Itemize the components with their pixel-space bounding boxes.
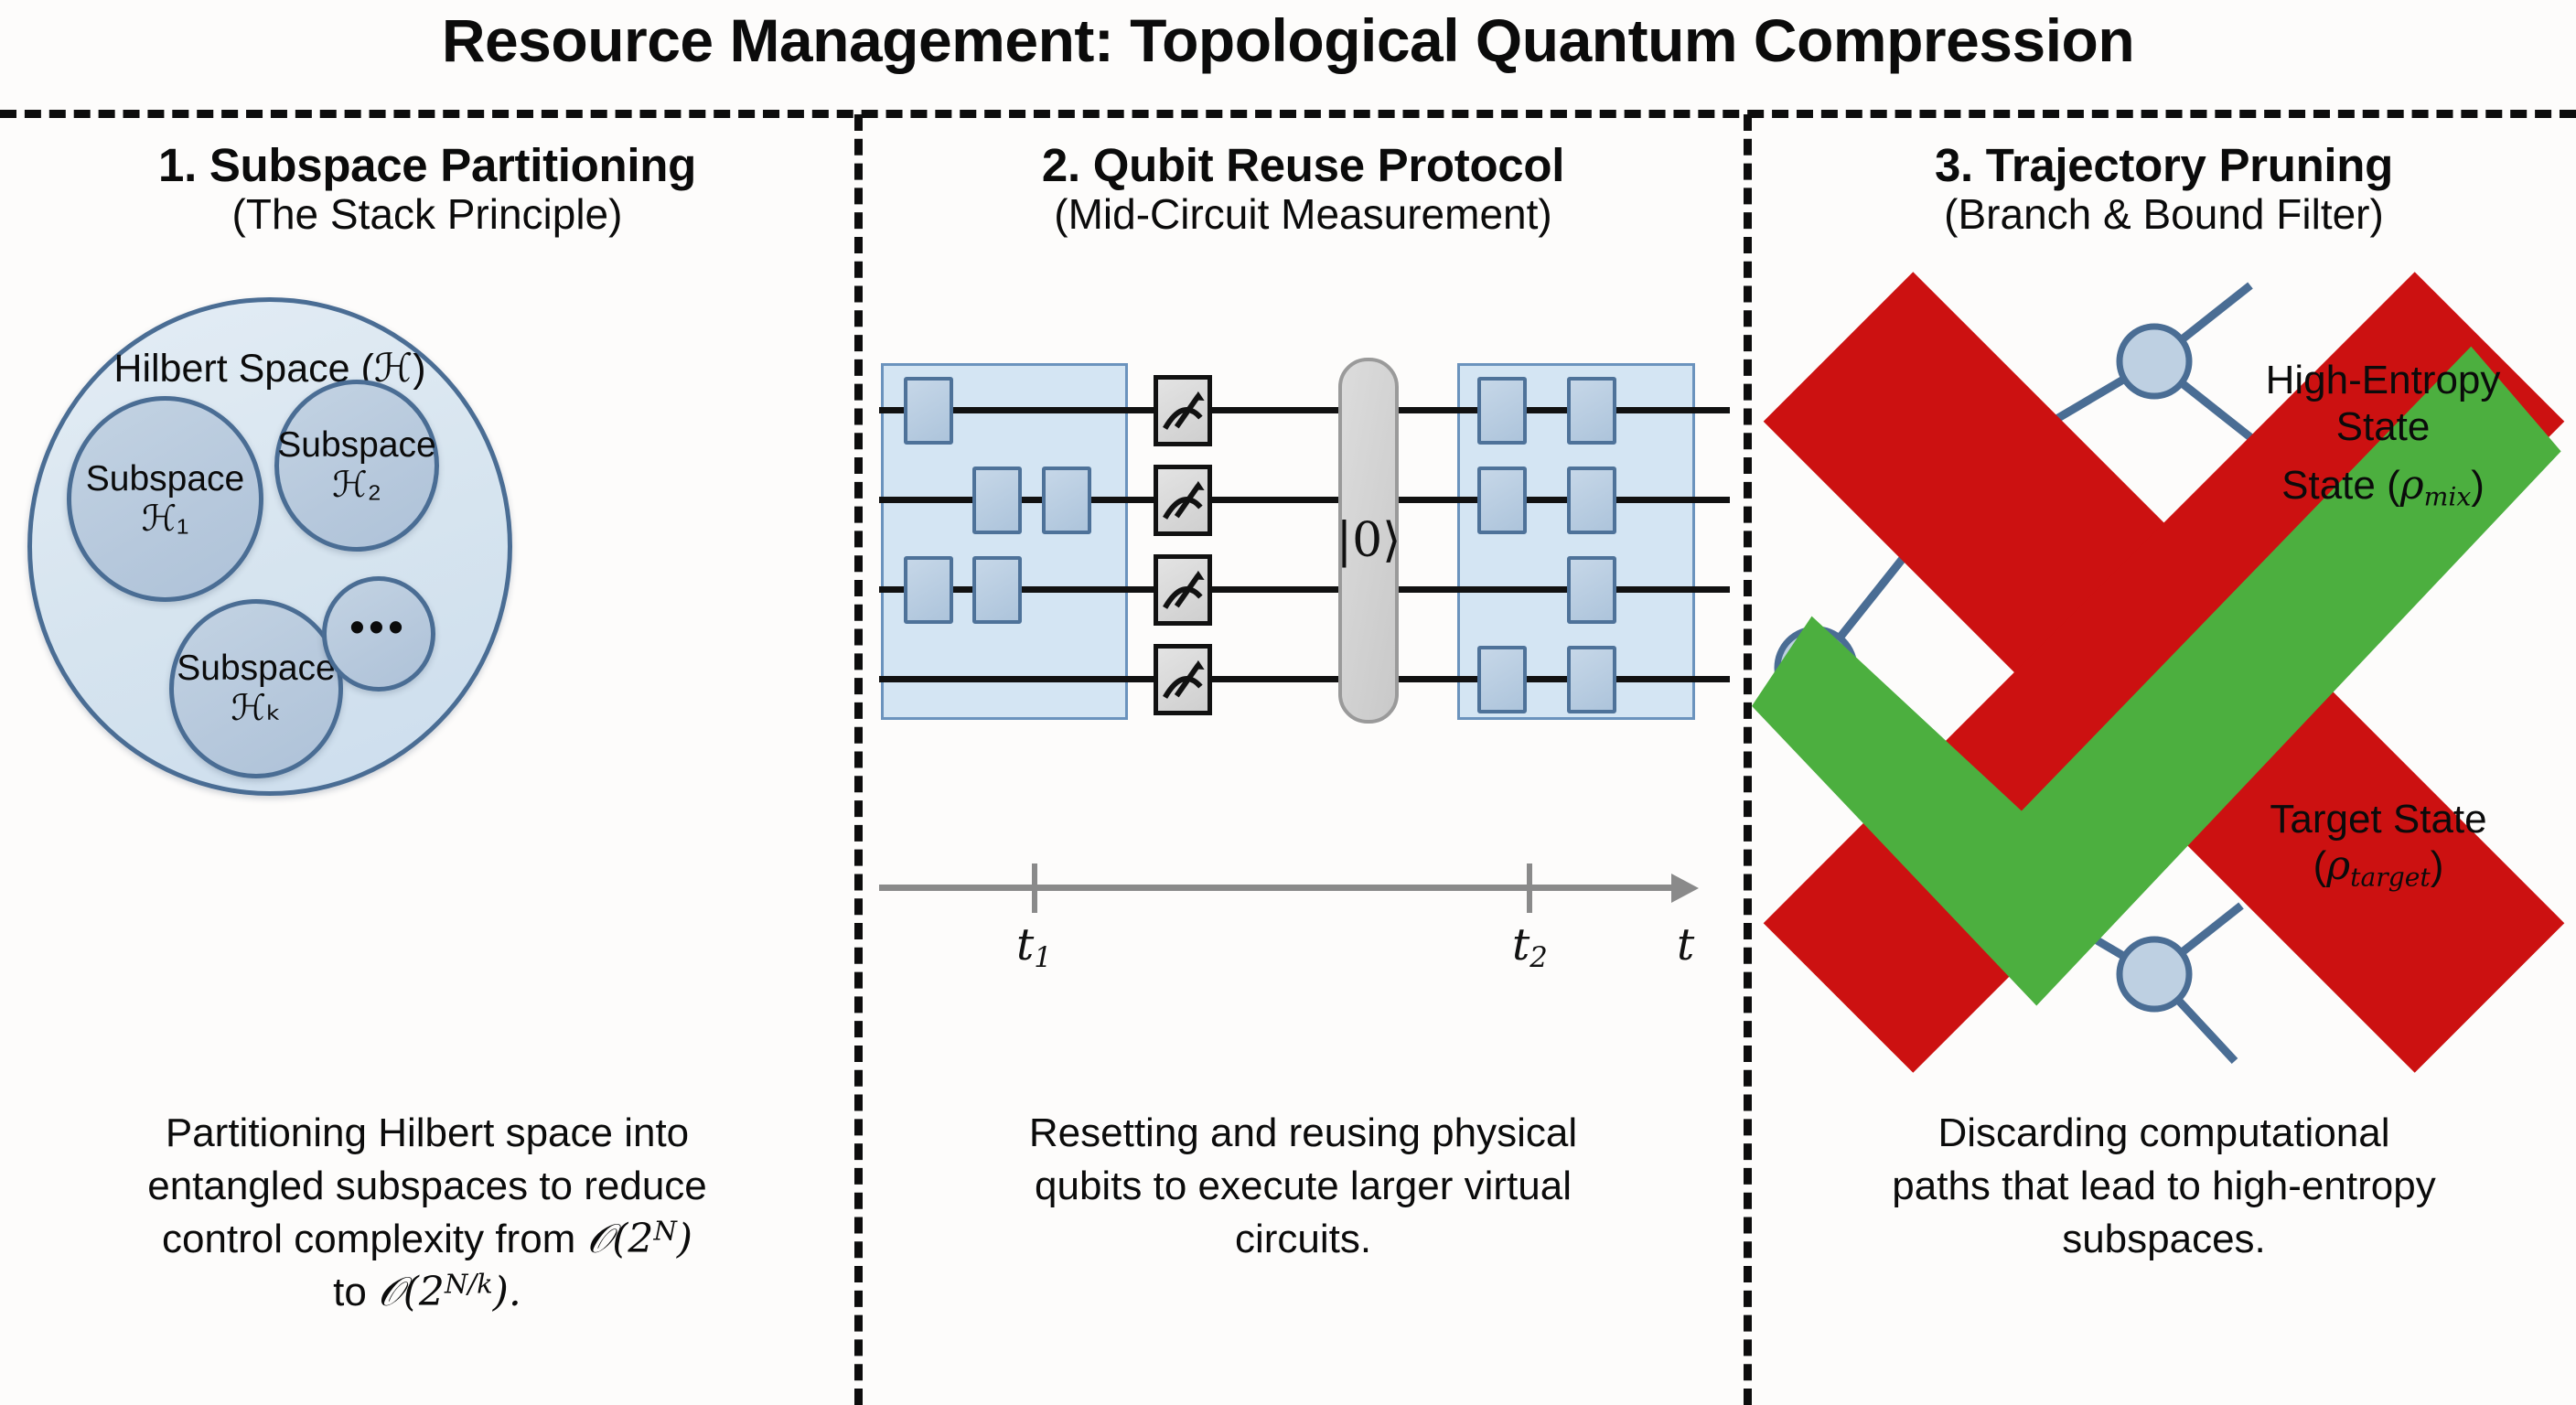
- panel-2-caption: Resetting and reusing physical qubits to…: [863, 1107, 1744, 1266]
- circuit-timeline: t1 t2 t: [863, 846, 1744, 983]
- rho-target-post: ): [2431, 843, 2444, 888]
- panel-3-caption-line3: subspaces.: [1752, 1213, 2576, 1266]
- t2-sub: 2: [1529, 941, 1548, 974]
- timeline-label-t2: t2: [1512, 919, 1548, 974]
- gate-right-w4-c1[interactable]: [1477, 646, 1527, 713]
- panel-1-caption-line1: Partitioning Hilbert space into: [0, 1107, 854, 1160]
- subspace-h2-symbol: ℋ₂: [277, 466, 435, 506]
- gate-right-w2-c2[interactable]: [1567, 467, 1616, 534]
- rho-target-pre: (: [2313, 843, 2327, 888]
- reset-gate-label: |0⟩: [1336, 513, 1401, 568]
- gate-right-w1-c2[interactable]: [1567, 377, 1616, 445]
- rho-mix-label: State (ρmix): [2191, 462, 2575, 512]
- subspace-h2-circle: Subspace ℋ₂: [274, 380, 439, 552]
- panel-2-heading-line2: (Mid-Circuit Measurement): [863, 190, 1744, 239]
- panel-3-caption: Discarding computational paths that lead…: [1752, 1107, 2576, 1266]
- meter-gauge-icon-w1[interactable]: [1154, 375, 1212, 446]
- panel-3-heading-line1: 3. Trajectory Pruning: [1752, 140, 2576, 190]
- subspace-hk-label: Subspace: [177, 649, 335, 689]
- caption-l4-post: ).: [493, 1269, 521, 1315]
- panel-1-heading-line1: 1. Subspace Partitioning: [0, 140, 854, 190]
- panel-1-caption-line2: entangled subspaces to reduce: [0, 1160, 854, 1213]
- quantum-circuit-diagram: |0⟩: [863, 325, 1744, 837]
- caption-l4-pre: to: [333, 1270, 378, 1314]
- subspace-h1-circle: Subspace ℋ₁: [67, 396, 263, 602]
- high-entropy-line2: State: [2191, 403, 2575, 450]
- gate-right-w2-c1[interactable]: [1477, 467, 1527, 534]
- panel-3-heading-line2: (Branch & Bound Filter): [1752, 190, 2576, 239]
- panel-1-caption-line3: control complexity from 𝒪(2N): [0, 1213, 854, 1266]
- panel-3-caption-line2: paths that lead to high-entropy: [1752, 1160, 2576, 1213]
- subspace-hk-symbol: ℋₖ: [177, 689, 335, 729]
- caption-l3-post: ): [677, 1216, 692, 1262]
- panel-2-heading: 2. Qubit Reuse Protocol (Mid-Circuit Mea…: [863, 140, 1744, 239]
- gate-right-w4-c2[interactable]: [1567, 646, 1616, 713]
- rho-mix-post: ): [2471, 463, 2485, 508]
- panel-2-caption-line1: Resetting and reusing physical: [863, 1107, 1744, 1160]
- gate-left-w1-c1[interactable]: [904, 377, 953, 445]
- target-state-label: Target State (ρtarget): [2182, 796, 2575, 894]
- meter-gauge-icon-w2[interactable]: [1154, 465, 1212, 536]
- subspace-ellipsis-circle: •••: [322, 576, 435, 692]
- panel-divider-1: [854, 114, 863, 1405]
- rho-target-sub: target: [2350, 863, 2431, 893]
- meter-gauge-icon-w4[interactable]: [1154, 644, 1212, 715]
- timeline-axis-label: t: [1677, 919, 1694, 971]
- high-entropy-state-label: High-Entropy State: [2191, 357, 2575, 451]
- gate-right-w3-c2[interactable]: [1567, 556, 1616, 624]
- subspace-h1-label: Subspace: [86, 459, 244, 499]
- high-entropy-line1: High-Entropy: [2191, 357, 2575, 403]
- panel-3-caption-line1: Discarding computational: [1752, 1107, 2576, 1160]
- caption-l3-bigO: 𝒪(2: [587, 1216, 654, 1262]
- subspace-h1-symbol: ℋ₁: [86, 499, 244, 540]
- timeline-arrowhead: [1671, 874, 1699, 903]
- rho-mix-sub: mix: [2424, 481, 2472, 511]
- rho-target-line: (ρtarget): [2182, 842, 2575, 893]
- caption-l3-pre: control complexity from: [162, 1217, 587, 1261]
- panel-1-caption-line4: to 𝒪(2N/k).: [0, 1266, 854, 1319]
- panel-2-caption-line3: circuits.: [863, 1213, 1744, 1266]
- reset-gate[interactable]: |0⟩: [1338, 358, 1399, 724]
- gate-left-w2-c2[interactable]: [972, 467, 1022, 534]
- caption-l3-exp: N: [653, 1216, 676, 1247]
- timeline-label-t1: t1: [1016, 919, 1052, 974]
- target-state-line1: Target State: [2182, 796, 2575, 842]
- gate-left-w2-c3[interactable]: [1042, 467, 1091, 534]
- caption-l4-bigO: 𝒪(2: [378, 1269, 445, 1315]
- ellipsis-icon: •••: [349, 604, 407, 651]
- hilbert-space-diagram: Hilbert Space (ℋ) Subspace ℋ₁ Subspace ℋ…: [0, 288, 854, 1075]
- panel-2-caption-line2: qubits to execute larger virtual: [863, 1160, 1744, 1213]
- panel-2-heading-line1: 2. Qubit Reuse Protocol: [863, 140, 1744, 190]
- rho-target-symbol: ρ: [2326, 842, 2350, 889]
- diagram-root: Resource Management: Topological Quantum…: [0, 0, 2576, 1405]
- timeline-axis: [879, 885, 1675, 891]
- page-title: Resource Management: Topological Quantum…: [0, 5, 2576, 75]
- panel-1-heading: 1. Subspace Partitioning (The Stack Prin…: [0, 140, 854, 239]
- panel-1-caption: Partitioning Hilbert space into entangle…: [0, 1107, 854, 1319]
- timeline-tick-t1: [1032, 863, 1037, 913]
- rho-mix-pre: State (: [2281, 463, 2400, 508]
- rho-mix-symbol: ρ: [2400, 462, 2424, 509]
- subspace-h2-label: Subspace: [277, 425, 435, 466]
- panel-1-heading-line2: (The Stack Principle): [0, 190, 854, 239]
- gate-left-w3-c1[interactable]: [904, 556, 953, 624]
- t1-sub: 1: [1034, 941, 1052, 974]
- subspace-hk-circle: Subspace ℋₖ: [169, 599, 343, 778]
- trajectory-tree-diagram: High-Entropy State State (ρmix) Target S…: [1752, 265, 2576, 1079]
- panel-3-heading: 3. Trajectory Pruning (Branch & Bound Fi…: [1752, 140, 2576, 239]
- panel-qubit-reuse-protocol: 2. Qubit Reuse Protocol (Mid-Circuit Mea…: [863, 114, 1744, 1405]
- t1-symbol: t: [1016, 919, 1034, 971]
- gate-right-w1-c1[interactable]: [1477, 377, 1527, 445]
- gate-left-w3-c2[interactable]: [972, 556, 1022, 624]
- meter-gauge-icon-w3[interactable]: [1154, 554, 1212, 626]
- timeline-tick-t2: [1527, 863, 1532, 913]
- panel-trajectory-pruning: 3. Trajectory Pruning (Branch & Bound Fi…: [1752, 114, 2576, 1405]
- panel-subspace-partitioning: 1. Subspace Partitioning (The Stack Prin…: [0, 114, 854, 1405]
- t2-symbol: t: [1512, 919, 1529, 971]
- panel-divider-2: [1744, 114, 1752, 1405]
- caption-l4-exp: N/k: [445, 1269, 493, 1300]
